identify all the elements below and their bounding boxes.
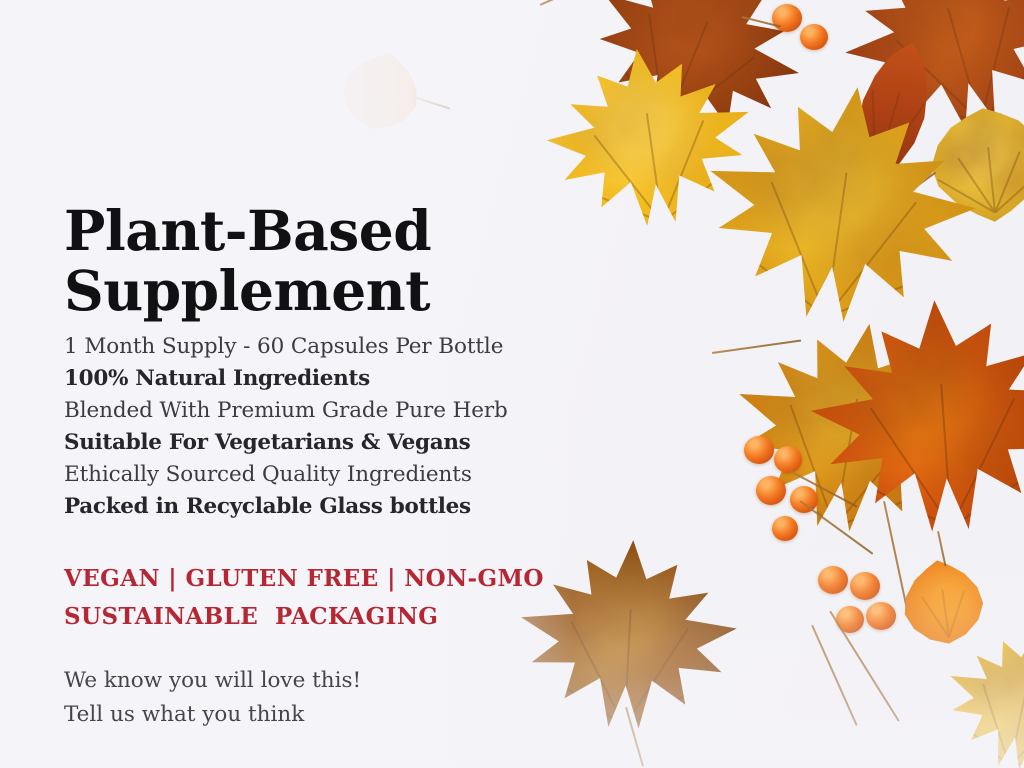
signoff-line: Tell us what you think xyxy=(64,698,361,732)
benefit-item: Suitable For Vegetarians & Vegans xyxy=(64,427,564,459)
claim-line: SUSTAINABLE PACKAGING xyxy=(64,598,544,636)
poster-canvas: Plant-Based Supplement 1 Month Supply - … xyxy=(0,0,1024,768)
signoff-line: We know you will love this! xyxy=(64,664,361,698)
benefit-item: Ethically Sourced Quality Ingredients xyxy=(64,459,564,491)
page-title: Plant-Based Supplement xyxy=(64,201,431,322)
benefits-list: 1 Month Supply - 60 Capsules Per Bottle … xyxy=(64,331,564,523)
claims-badges: VEGAN | GLUTEN FREE | NON-GMO SUSTAINABL… xyxy=(64,560,544,636)
benefit-item: Packed in Recyclable Glass bottles xyxy=(64,491,564,523)
benefit-item: Blended With Premium Grade Pure Herb xyxy=(64,395,564,427)
benefit-item: 100% Natural Ingredients xyxy=(64,363,564,395)
benefit-item: 1 Month Supply - 60 Capsules Per Bottle xyxy=(64,331,564,363)
signoff-message: We know you will love this! Tell us what… xyxy=(64,664,361,732)
text-content: Plant-Based Supplement 1 Month Supply - … xyxy=(64,0,584,768)
claim-line: VEGAN | GLUTEN FREE | NON-GMO xyxy=(64,560,544,598)
